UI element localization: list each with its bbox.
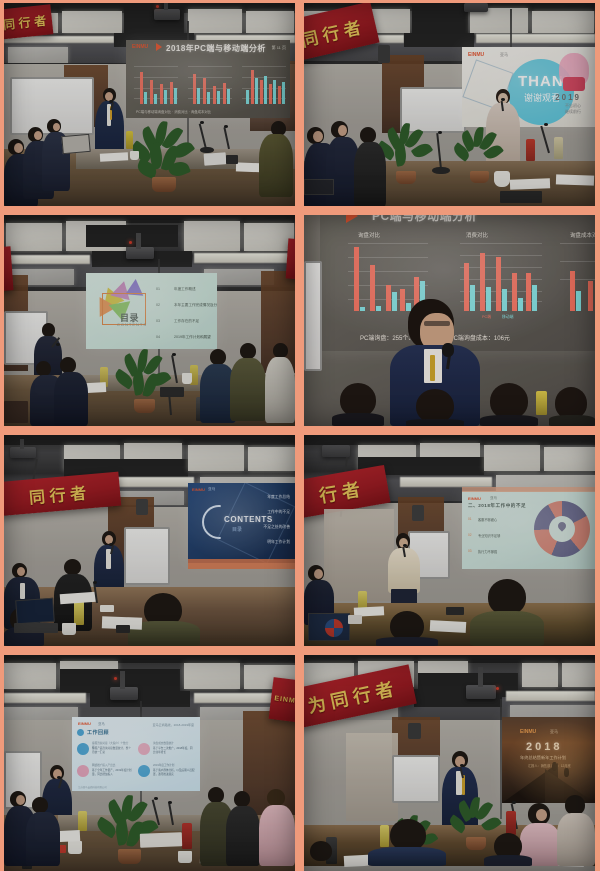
contents-item-2: 工作中的不足 [267, 510, 290, 515]
quadrant-text-3: 基于全年工作量产，2019年度计划量，同比增加投入 [92, 769, 132, 776]
cup [62, 623, 76, 635]
attendee-person [368, 819, 446, 866]
drink-bottle [78, 811, 87, 831]
attendee-person [26, 797, 60, 866]
thermos-bottle [182, 823, 192, 849]
whiteboard [304, 261, 322, 371]
contents-num-3: 03 [156, 319, 160, 323]
microphone-head-icon [200, 121, 204, 124]
attendee-person [470, 579, 544, 646]
laptop [15, 598, 55, 625]
whiteboard [124, 527, 170, 585]
collage-photo-2[interactable]: 同 行 者 EINMU 亚马 THANKS 谢谢观看 2019 不忘初心 继续前… [304, 3, 595, 206]
attendee-person [354, 127, 386, 206]
projection-screen-3[interactable]: 目录 CONTENTS 01 年度工作概述 02 本年主要工作完成情况及分析 0… [86, 273, 217, 349]
keyboard [500, 191, 542, 203]
attendee-person [257, 121, 293, 197]
quadrant-label-4: 2019年度工作计划 [153, 763, 193, 767]
slide-2-year: 2019 [555, 93, 581, 102]
quadrant-label-3: 网络推广投入产出比 [92, 763, 130, 767]
phone [100, 605, 114, 612]
slide-7-footer: 江苏亚马云商科技有限公司 [78, 785, 107, 789]
projector-indicator-icon [496, 687, 499, 690]
cup [130, 151, 139, 160]
slide-mascot-body-icon [563, 77, 585, 91]
drink-bottle [74, 601, 84, 625]
microphone-head-icon [438, 131, 442, 134]
slide-logo: EINMU [192, 487, 205, 492]
phone [348, 615, 362, 624]
slide-6-label-2: 专业知识不足够 [478, 533, 500, 538]
attendee-person [376, 611, 438, 646]
wall-speaker [412, 505, 424, 521]
document [100, 152, 128, 161]
projector [464, 3, 488, 12]
document [556, 174, 594, 185]
cup [494, 171, 510, 187]
attendee-person [230, 343, 266, 421]
red-banner: EINMU [269, 677, 295, 723]
projector [466, 685, 496, 699]
document [510, 178, 550, 189]
cup [68, 841, 82, 854]
attendee-person [484, 833, 532, 866]
chair [4, 401, 28, 423]
microphone-head-icon [93, 581, 97, 584]
banner-char-3: 者 [340, 476, 363, 505]
banner-char-3: 者 [341, 13, 364, 41]
projection-screen-6[interactable]: EINMU 亚马 二、2018年工作中的不足 01 客服不够细心 02 专业知识… [462, 491, 595, 569]
banner-char-2: 行 [18, 13, 33, 31]
attendee-person [480, 383, 538, 426]
attendee-person [265, 343, 295, 423]
quadrant-icon-1 [77, 743, 89, 755]
chart-legend-mobile: 移动端 [502, 315, 513, 320]
slide-1-page-label: 第 11 页 [272, 45, 286, 51]
projection-screen-2[interactable]: EINMU 亚马 THANKS 谢谢观看 2019 不忘初心 继续前行 [462, 47, 595, 127]
cup [182, 373, 192, 384]
quadrant-text-2: 基于平台二次推广，2018年度，同比往年增长 [153, 747, 195, 754]
potted-plant [378, 123, 438, 185]
logo-arrow-icon [156, 43, 162, 51]
banner-char-2: 行 [48, 481, 67, 506]
laptop [61, 134, 90, 154]
projector-indicator-icon [156, 5, 159, 8]
microphone-head-icon [512, 801, 516, 804]
projector-mount [20, 439, 24, 449]
quadrant-text-1: 客服产品咨询对接数量统计，整个月统一汇总 [92, 747, 132, 754]
slide-6-title: 二、2018年工作中的不足 [468, 503, 526, 509]
document [430, 620, 467, 633]
slide-logo-suffix: 亚马 [490, 496, 497, 501]
screen-bottom-band [188, 559, 295, 569]
bullet-icon [77, 729, 84, 736]
attendee-person [332, 383, 384, 426]
attendee-person [226, 791, 260, 866]
attendee-person [406, 389, 464, 426]
contents-label-3: 工作存在的不足 [174, 319, 199, 324]
climber-silhouette-icon [564, 768, 569, 777]
contents-label-4: 2019年工作计划和展望 [174, 335, 211, 340]
slide-logo: EINMU [78, 721, 91, 726]
collage-photo-8[interactable]: 为 同 行 者 EINMU 亚马 2018 年终总结暨新年工作计划 汇报人：销售… [304, 655, 595, 871]
banner-char-4: 为 [305, 689, 329, 718]
potted-plant [132, 121, 200, 193]
chart-legend-pc: PC端 [482, 315, 491, 320]
climber-silhouette-icon [552, 762, 557, 771]
contents-item-1: 年度工作总结 [267, 495, 290, 500]
slide-1-title: 2018年PC端与移动端分析 [166, 43, 266, 54]
banner-char-2: 行 [317, 480, 340, 509]
microphone-head-icon [224, 125, 228, 128]
banner-char-3: 者 [373, 675, 397, 704]
laptop-keyboard [14, 623, 58, 633]
projector-mount [136, 233, 141, 249]
quadrant-icon-2 [138, 743, 150, 755]
quadrant-icon-4 [138, 765, 150, 777]
red-banner: 同 行 者 [4, 4, 53, 39]
projector-indicator-icon [114, 677, 117, 680]
attendee-person [40, 119, 70, 191]
slide-logo: EINMU [468, 52, 484, 58]
collage-photo-3[interactable]: 目录 CONTENTS 01 年度工作概述 02 本年主要工作完成情况及分析 0… [4, 215, 295, 426]
attendee-person [259, 789, 295, 866]
attendee-person [557, 795, 595, 866]
logo-arrow-icon [346, 215, 358, 223]
slide-4-title: PC端与移动端分析 [372, 215, 477, 224]
screen-top-band [462, 487, 595, 492]
contents-num-1: 01 [156, 287, 160, 291]
projector-mount [164, 3, 168, 10]
quadrant-label-2: 询盘成交数量统计 [153, 741, 193, 745]
banner-char-2: 行 [319, 18, 342, 46]
slide-6-num-3: 03 [468, 549, 472, 553]
drink-bottle [536, 391, 547, 415]
slide-8-title: 2018 [526, 741, 562, 753]
cup [178, 851, 192, 863]
microphone-head-icon [544, 123, 548, 126]
banner-char-2: 行 [350, 680, 374, 709]
banner-char-1: 同 [4, 15, 17, 33]
projector-mount [478, 667, 483, 687]
slide-6-num-1: 01 [468, 517, 472, 521]
collage-photo-7[interactable]: EINMU EINMU 亚马 工作回顾 亚马云商路线，2018-2019年度 客… [4, 655, 295, 871]
contents-label-1: 年度工作概述 [174, 287, 196, 292]
device [226, 155, 238, 164]
slide-6-num-2: 02 [468, 533, 472, 537]
slide-2-footer2: 继续前行 [565, 109, 581, 115]
chart-cost-comparison [560, 241, 595, 311]
banner-char-1: 同 [304, 23, 321, 51]
microphone-head-icon [168, 801, 172, 804]
contents-num-4: 04 [156, 335, 160, 339]
notepad [140, 832, 182, 847]
contents-label-2: 本年主要工作完成情况及分析 [174, 303, 217, 308]
attendee-person [549, 387, 595, 426]
projector-mount [120, 671, 125, 689]
drink-bottle [126, 131, 133, 149]
photo-collage: 同 行 者 EINMU 2018年PC端与移动端分析 第 11 页 [0, 0, 600, 871]
red-banner [286, 238, 295, 279]
chart-4-title-1: 询盘对比 [358, 231, 380, 239]
wall-speaker [136, 499, 148, 515]
collage-photo-6[interactable]: 行 者 EINMU 亚马 二、2018年工作中的不足 01 客服不够细心 02 … [304, 435, 595, 646]
projection-screen-1[interactable]: EINMU 2018年PC端与移动端分析 第 11 页 [126, 40, 290, 118]
slide-8-subtitle: 年终总结暨新年工作计划 [520, 755, 566, 761]
projector-indicator-icon [129, 241, 132, 244]
notepad [204, 152, 227, 166]
banner-char-3: 者 [33, 11, 48, 29]
collage-photo-1[interactable]: 同 行 者 EINMU 2018年PC端与移动端分析 第 11 页 [4, 3, 295, 206]
attendee-person [54, 357, 88, 426]
microphone-head-icon [154, 797, 158, 800]
contents-item-3: 不足之处的改善 [263, 525, 290, 530]
slide-7-header-note: 亚马云商路线，2018-2019年度 [153, 723, 194, 727]
slide-6-label-1: 客服不够细心 [478, 517, 497, 522]
contents-item-4: 明年工作计划 [267, 540, 290, 545]
projection-screen-8[interactable]: EINMU 亚马 2018 年终总结暨新年工作计划 汇报人：销售部 日期：12月… [502, 717, 595, 803]
laptop [304, 179, 334, 195]
projector [154, 9, 180, 20]
slide-logo: EINMU [520, 729, 536, 735]
whiteboard [392, 755, 440, 803]
chart-4-title-3: 询盘成本对比 [570, 231, 595, 239]
slide-logo-suffix: 亚马 [550, 729, 558, 735]
banner-logo: EINMU [274, 695, 295, 705]
potted-plant [116, 349, 176, 415]
slide-6-label-3: 执行力不够强 [478, 549, 497, 554]
slide-logo: EINMU [468, 496, 481, 501]
microphone-head-icon [442, 343, 454, 357]
slide-7-title: 工作回顾 [87, 729, 109, 736]
thermos-bottle [506, 811, 516, 835]
mini-chart-2 [188, 60, 232, 104]
curtain [346, 733, 398, 821]
slide-logo-suffix: 亚马 [500, 52, 508, 58]
quadrant-text-4: 基于客户群体分析，以及后期人员配置，逐月推进落实 [153, 769, 195, 776]
collage-photo-5[interactable]: 同 行 者 EINMU 亚马 CONTENTS 目录 年度工作总结 工作中的不足… [4, 435, 295, 646]
projection-screen-5[interactable]: EINMU 亚马 CONTENTS 目录 年度工作总结 工作中的不足 不足之处的… [188, 483, 295, 563]
microphone-head-icon [172, 353, 176, 356]
thermos-bottle [526, 139, 535, 161]
wall-speaker [378, 45, 390, 63]
slide-logo-suffix: 亚马 [208, 487, 215, 492]
mini-chart-3 [242, 60, 286, 104]
projection-screen-7[interactable]: EINMU 亚马 工作回顾 亚马云商路线，2018-2019年度 客服咨询对接（… [72, 717, 200, 791]
banner-char-1: 同 [328, 685, 352, 714]
quadrant-icon-3 [77, 765, 89, 777]
phone [116, 625, 130, 633]
attendee-person [304, 841, 340, 866]
wall-speaker [408, 723, 421, 739]
curtain [324, 509, 394, 601]
glasses-icon [424, 321, 450, 326]
device [160, 387, 184, 397]
contents-num-2: 02 [156, 303, 160, 307]
chart-4-title-2: 消费对比 [466, 231, 488, 239]
slide-logo: EINMU [132, 44, 148, 50]
slide-logo-suffix: 亚马 [98, 721, 105, 726]
laptop [308, 613, 350, 641]
collage-photo-4[interactable]: PC端与移动端分析 询盘对比 消费对比 询盘成本对比 [304, 215, 595, 426]
mini-chart-1 [134, 60, 178, 104]
presenter-person [388, 533, 420, 611]
banner-char-3: 者 [69, 480, 88, 505]
projector [322, 445, 350, 457]
banner-char-1: 同 [28, 483, 47, 508]
device [446, 607, 464, 615]
slide-3-subtitle: CONTENTS [117, 322, 147, 327]
drink-bottle [554, 137, 563, 159]
